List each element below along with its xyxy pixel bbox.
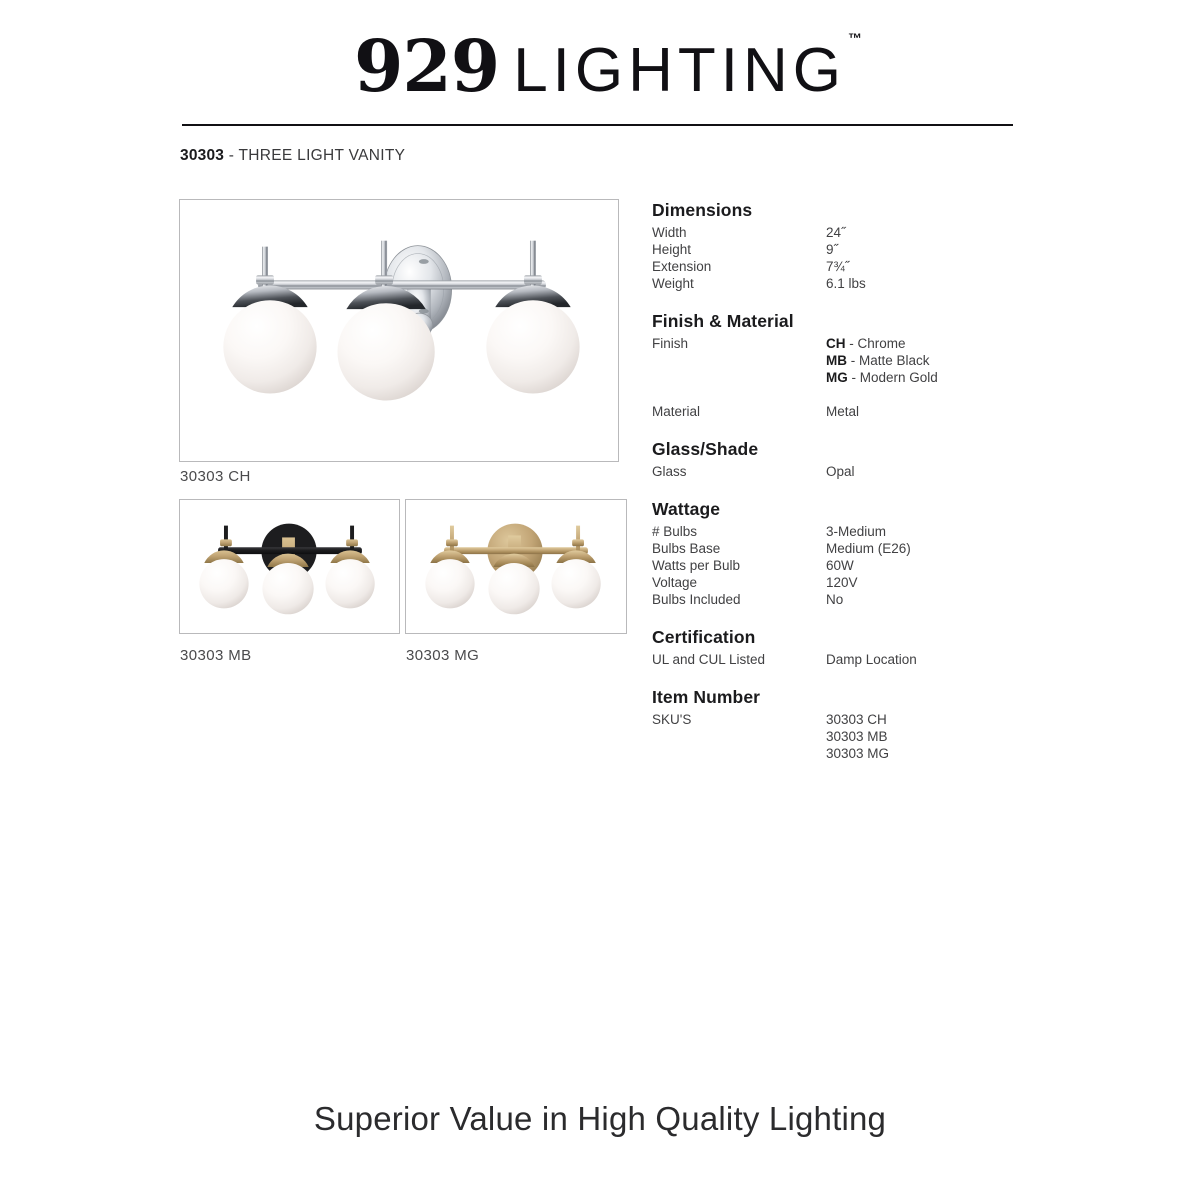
spec-row: UL and CUL ListedDamp Location bbox=[652, 651, 1022, 668]
spec-label: Finish bbox=[652, 335, 826, 352]
spec-row: Extension7¾˝ bbox=[652, 258, 1022, 275]
header-divider bbox=[182, 124, 1013, 126]
brand-logo-number: 929 bbox=[354, 24, 499, 108]
product-image-main bbox=[179, 199, 619, 462]
title-separator: - bbox=[224, 147, 238, 164]
spec-row: Bulbs BaseMedium (E26) bbox=[652, 540, 1022, 557]
spec-value: 7¾˝ bbox=[826, 258, 849, 275]
spec-row: # Bulbs3-Medium bbox=[652, 523, 1022, 540]
spec-section-heading: Item Number bbox=[652, 687, 1022, 708]
spec-section: CertificationUL and CUL ListedDamp Locat… bbox=[652, 627, 1022, 668]
spec-section-heading: Glass/Shade bbox=[652, 439, 1022, 460]
spec-value: Opal bbox=[826, 463, 855, 480]
spec-section-heading: Dimensions bbox=[652, 200, 1022, 221]
brand-logo-word: LIGHTING bbox=[513, 36, 846, 105]
spec-value: 6.1 lbs bbox=[826, 275, 866, 292]
spec-value: No bbox=[826, 591, 843, 608]
spec-value: Damp Location bbox=[826, 651, 917, 668]
modern-gold-vanity-illustration bbox=[406, 500, 626, 633]
spec-label: Material bbox=[652, 403, 826, 420]
spec-row: MB - Matte Black bbox=[652, 352, 1022, 369]
specifications-panel: DimensionsWidth24˝Height9˝Extension7¾˝We… bbox=[652, 200, 1022, 781]
spec-label: SKU'S bbox=[652, 711, 826, 728]
spec-row: Voltage120V bbox=[652, 574, 1022, 591]
spec-label: UL and CUL Listed bbox=[652, 651, 826, 668]
caption-main-image: 30303 CH bbox=[180, 468, 251, 485]
spec-spacer bbox=[652, 386, 1022, 403]
finish-description: - Matte Black bbox=[847, 353, 930, 368]
spec-row: Width24˝ bbox=[652, 224, 1022, 241]
spec-section-heading: Certification bbox=[652, 627, 1022, 648]
trademark-symbol: ™ bbox=[848, 30, 862, 46]
spec-row: SKU'S30303 CH bbox=[652, 711, 1022, 728]
spec-row: MG - Modern Gold bbox=[652, 369, 1022, 386]
caption-modern-gold-image: 30303 MG bbox=[406, 647, 479, 664]
product-sku: 30303 bbox=[180, 147, 224, 164]
spec-value: 9˝ bbox=[826, 241, 838, 258]
spec-value: 30303 MG bbox=[826, 745, 889, 762]
spec-section-heading: Finish & Material bbox=[652, 311, 1022, 332]
globe-center bbox=[488, 554, 539, 615]
spec-row: 30303 MG bbox=[652, 745, 1022, 762]
finish-code: CH bbox=[826, 336, 846, 351]
spec-label: Bulbs Base bbox=[652, 540, 826, 557]
globe-center bbox=[262, 554, 313, 615]
spec-label: Weight bbox=[652, 275, 826, 292]
spec-label: Height bbox=[652, 241, 826, 258]
cross-bar bbox=[258, 280, 546, 289]
spec-label: # Bulbs bbox=[652, 523, 826, 540]
finish-code: MB bbox=[826, 353, 847, 368]
spec-section: Finish & MaterialFinishCH - ChromeMB - M… bbox=[652, 311, 1022, 420]
spec-value: 30303 CH bbox=[826, 711, 887, 728]
spec-value: MB - Matte Black bbox=[826, 352, 930, 369]
spec-value: 30303 MB bbox=[826, 728, 888, 745]
spec-label: Extension bbox=[652, 258, 826, 275]
spec-section: Glass/ShadeGlassOpal bbox=[652, 439, 1022, 480]
spec-label: Glass bbox=[652, 463, 826, 480]
product-name: THREE LIGHT VANITY bbox=[239, 147, 406, 164]
caption-matte-black-image: 30303 MB bbox=[180, 647, 252, 664]
spec-row: Watts per Bulb60W bbox=[652, 557, 1022, 574]
spec-value: 3-Medium bbox=[826, 523, 886, 540]
spec-value: Medium (E26) bbox=[826, 540, 911, 557]
matte-black-vanity-illustration bbox=[180, 500, 399, 633]
product-image-modern-gold bbox=[405, 499, 627, 634]
spec-section: DimensionsWidth24˝Height9˝Extension7¾˝We… bbox=[652, 200, 1022, 292]
globe-right bbox=[551, 550, 600, 608]
spec-label: Voltage bbox=[652, 574, 826, 591]
finish-description: - Chrome bbox=[846, 336, 906, 351]
spec-value: CH - Chrome bbox=[826, 335, 906, 352]
spec-row: FinishCH - Chrome bbox=[652, 335, 1022, 352]
spec-row: Height9˝ bbox=[652, 241, 1022, 258]
product-image-matte-black bbox=[179, 499, 400, 634]
spec-section-heading: Wattage bbox=[652, 499, 1022, 520]
brand-logo-inner: 929LIGHTING™ bbox=[354, 24, 846, 108]
spec-row: MaterialMetal bbox=[652, 403, 1022, 420]
globe-left bbox=[199, 550, 248, 608]
spec-value: 24˝ bbox=[826, 224, 846, 241]
globe-right bbox=[325, 550, 374, 608]
spec-label: Watts per Bulb bbox=[652, 557, 826, 574]
chrome-vanity-illustration bbox=[180, 200, 618, 461]
spec-row: 30303 MB bbox=[652, 728, 1022, 745]
globe-center bbox=[337, 286, 434, 400]
spec-label: Width bbox=[652, 224, 826, 241]
page-title: 30303 - THREE LIGHT VANITY bbox=[180, 147, 405, 165]
globe-left bbox=[223, 286, 316, 394]
spec-row: GlassOpal bbox=[652, 463, 1022, 480]
spec-section: Wattage# Bulbs3-MediumBulbs BaseMedium (… bbox=[652, 499, 1022, 608]
spec-label: Bulbs Included bbox=[652, 591, 826, 608]
finish-code: MG bbox=[826, 370, 848, 385]
footer-tagline: Superior Value in High Quality Lighting bbox=[0, 1100, 1200, 1138]
brand-logo: 929LIGHTING™ bbox=[0, 24, 1200, 108]
spec-section: Item NumberSKU'S30303 CH30303 MB30303 MG bbox=[652, 687, 1022, 762]
spec-value: Metal bbox=[826, 403, 859, 420]
spec-value: 120V bbox=[826, 574, 858, 591]
spec-row: Bulbs IncludedNo bbox=[652, 591, 1022, 608]
globe-left bbox=[425, 550, 474, 608]
spec-value: 60W bbox=[826, 557, 854, 574]
globe-right bbox=[486, 286, 579, 394]
spec-row: Weight6.1 lbs bbox=[652, 275, 1022, 292]
finish-description: - Modern Gold bbox=[848, 370, 938, 385]
spec-value: MG - Modern Gold bbox=[826, 369, 938, 386]
